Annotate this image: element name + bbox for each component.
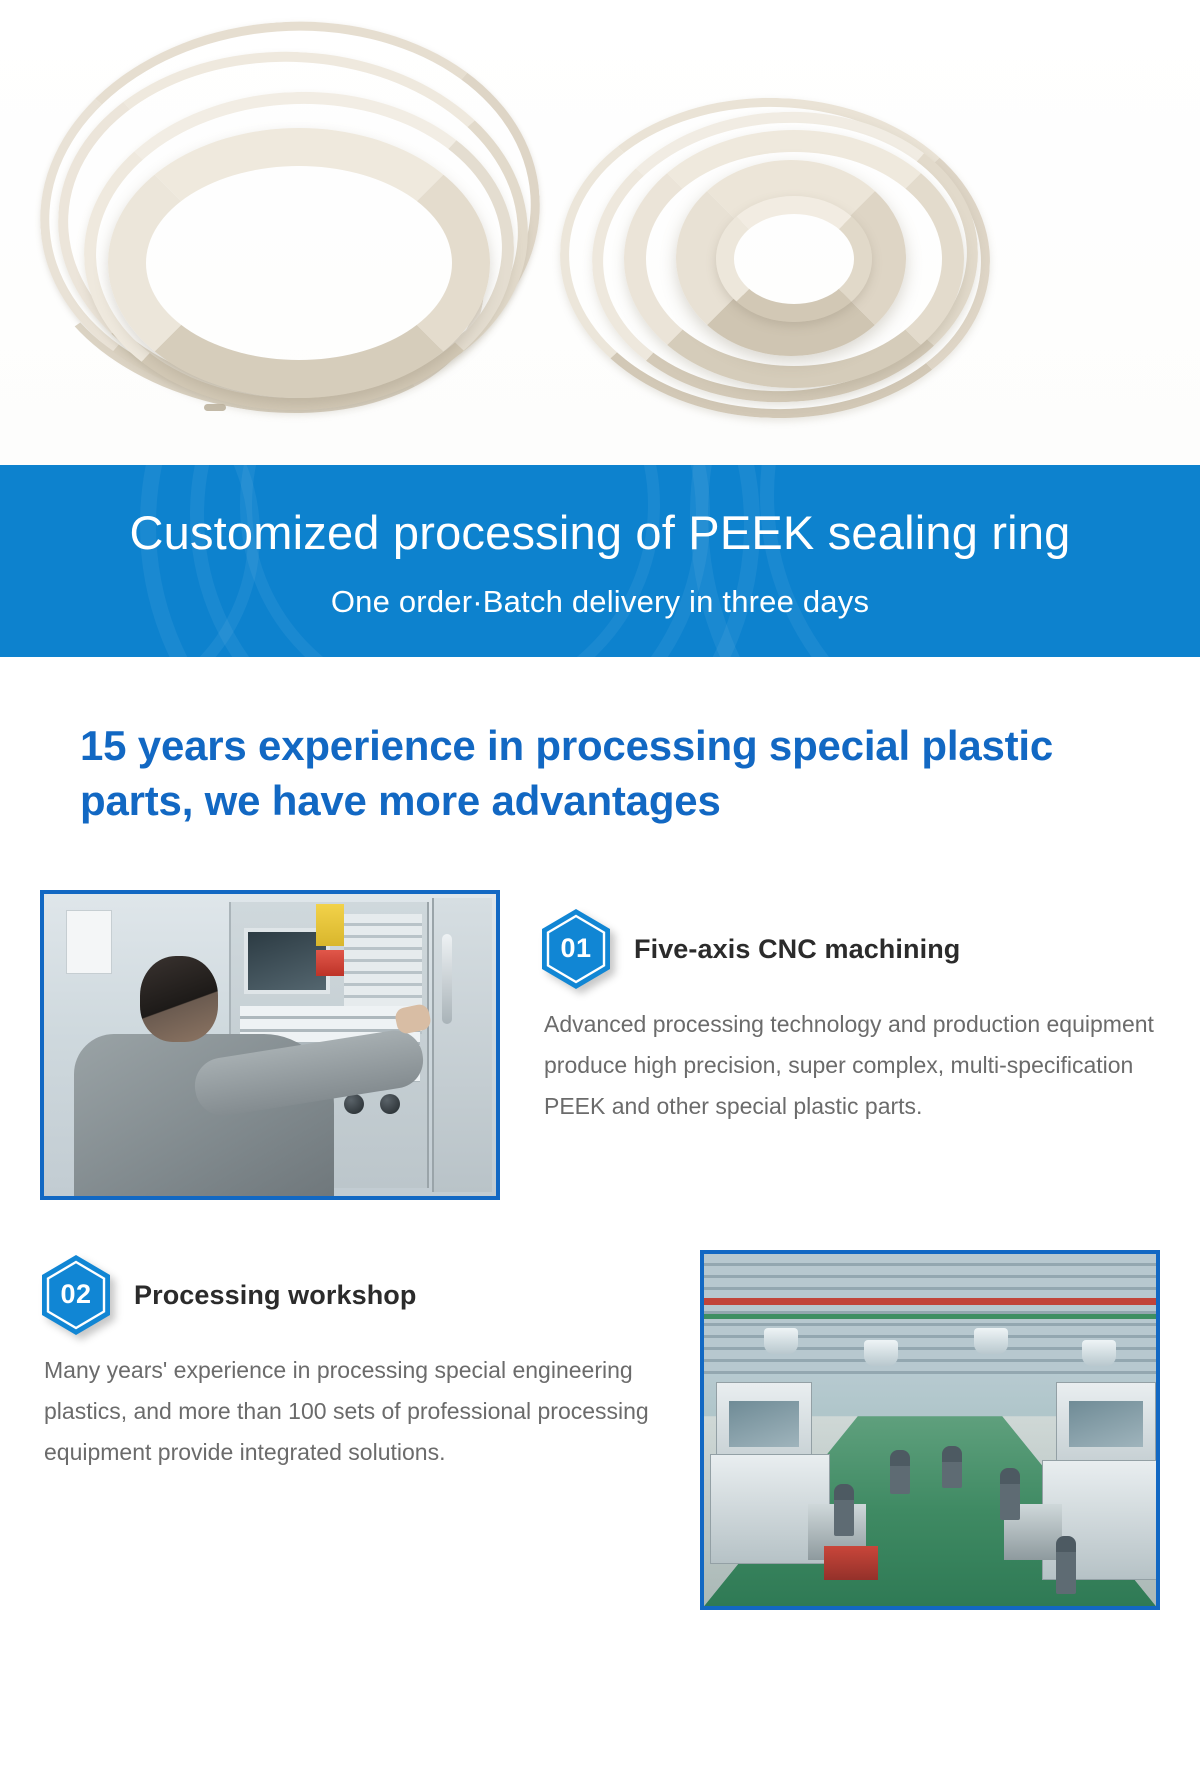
hexagon-badge-icon: 02 bbox=[40, 1254, 112, 1336]
section-headline: 15 years experience in processing specia… bbox=[80, 719, 1120, 828]
feature-title-01: Five-axis CNC machining bbox=[634, 934, 960, 965]
feature-text-01: 01 Five-axis CNC machining Advanced proc… bbox=[500, 890, 1160, 1127]
feature-text-02: 02 Processing workshop Many years' exper… bbox=[40, 1250, 700, 1473]
hero-product-photo bbox=[0, 0, 1200, 465]
feature-row-02: 02 Processing workshop Many years' exper… bbox=[0, 1250, 1200, 1610]
feature-row-01: 01 Five-axis CNC machining Advanced proc… bbox=[0, 890, 1200, 1200]
peek-ring-core-right bbox=[716, 196, 872, 322]
feature-image-workshop bbox=[700, 1250, 1160, 1610]
feature-number-01: 01 bbox=[540, 908, 612, 990]
product-promo-page: Customized processing of PEEK sealing ri… bbox=[0, 0, 1200, 1773]
feature-body-01: Advanced processing technology and produ… bbox=[540, 1004, 1160, 1127]
blue-banner: Customized processing of PEEK sealing ri… bbox=[0, 465, 1200, 657]
feature-image-cnc-machining bbox=[40, 890, 500, 1200]
feature-title-02: Processing workshop bbox=[134, 1280, 416, 1311]
feature-number-02: 02 bbox=[40, 1254, 112, 1336]
feature-head-02: 02 Processing workshop bbox=[40, 1254, 664, 1336]
banner-title: Customized processing of PEEK sealing ri… bbox=[0, 508, 1200, 557]
banner-content: Customized processing of PEEK sealing ri… bbox=[0, 465, 1200, 620]
peek-ring-thick-left bbox=[108, 128, 490, 398]
hero-photo-backdrop bbox=[0, 0, 1200, 465]
banner-subtitle: One order·Batch delivery in three days bbox=[0, 584, 1200, 620]
feature-head-01: 01 Five-axis CNC machining bbox=[540, 908, 1160, 990]
section-headline-wrap: 15 years experience in processing specia… bbox=[0, 657, 1200, 828]
hexagon-badge-icon: 01 bbox=[540, 908, 612, 990]
feature-body-02: Many years' experience in processing spe… bbox=[40, 1350, 664, 1473]
